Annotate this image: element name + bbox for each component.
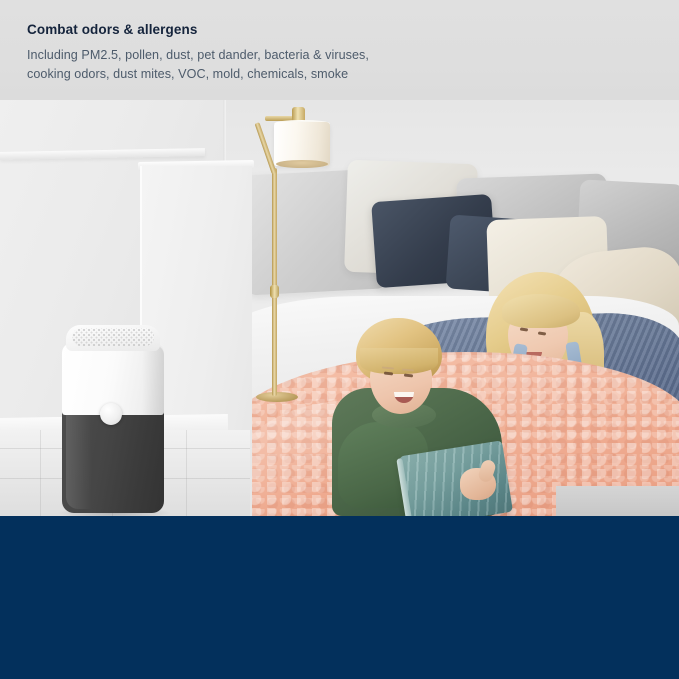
boy-teeth [394,392,414,397]
header-panel: Combat odors & allergens Including PM2.5… [0,0,679,100]
footer-banner: Removes 99.99% of common allergens [0,516,679,679]
air-purifier-power-button[interactable] [100,403,122,425]
bed-base-edge [556,486,679,516]
child-boy [332,318,522,516]
floor-seam-v3 [186,430,187,516]
feature-subtitle: Including PM2.5, pollen, dust, pet dande… [27,46,369,84]
product-feature-card: Combat odors & allergens Including PM2.5… [0,0,679,679]
feature-subtitle-line-1: Including PM2.5, pollen, dust, pet dande… [27,46,369,65]
lamp-base [256,392,298,402]
feature-title: Combat odors & allergens [27,22,197,37]
air-purifier [56,325,168,515]
brass-floor-lamp [232,100,342,420]
air-purifier-body-highlight [66,413,92,509]
boy-hair-fringe [360,348,438,374]
floor-seam-v1 [40,430,41,516]
lamp-shade-bottom-glow [276,160,328,168]
air-purifier-shell-shading [142,345,164,415]
lamp-pole [272,168,277,396]
lamp-pole-joint [270,285,279,298]
air-purifier-grille [72,328,154,346]
feature-subtitle-line-2: cooking odors, dust mites, VOC, mold, ch… [27,65,369,84]
lifestyle-photo [0,100,679,516]
